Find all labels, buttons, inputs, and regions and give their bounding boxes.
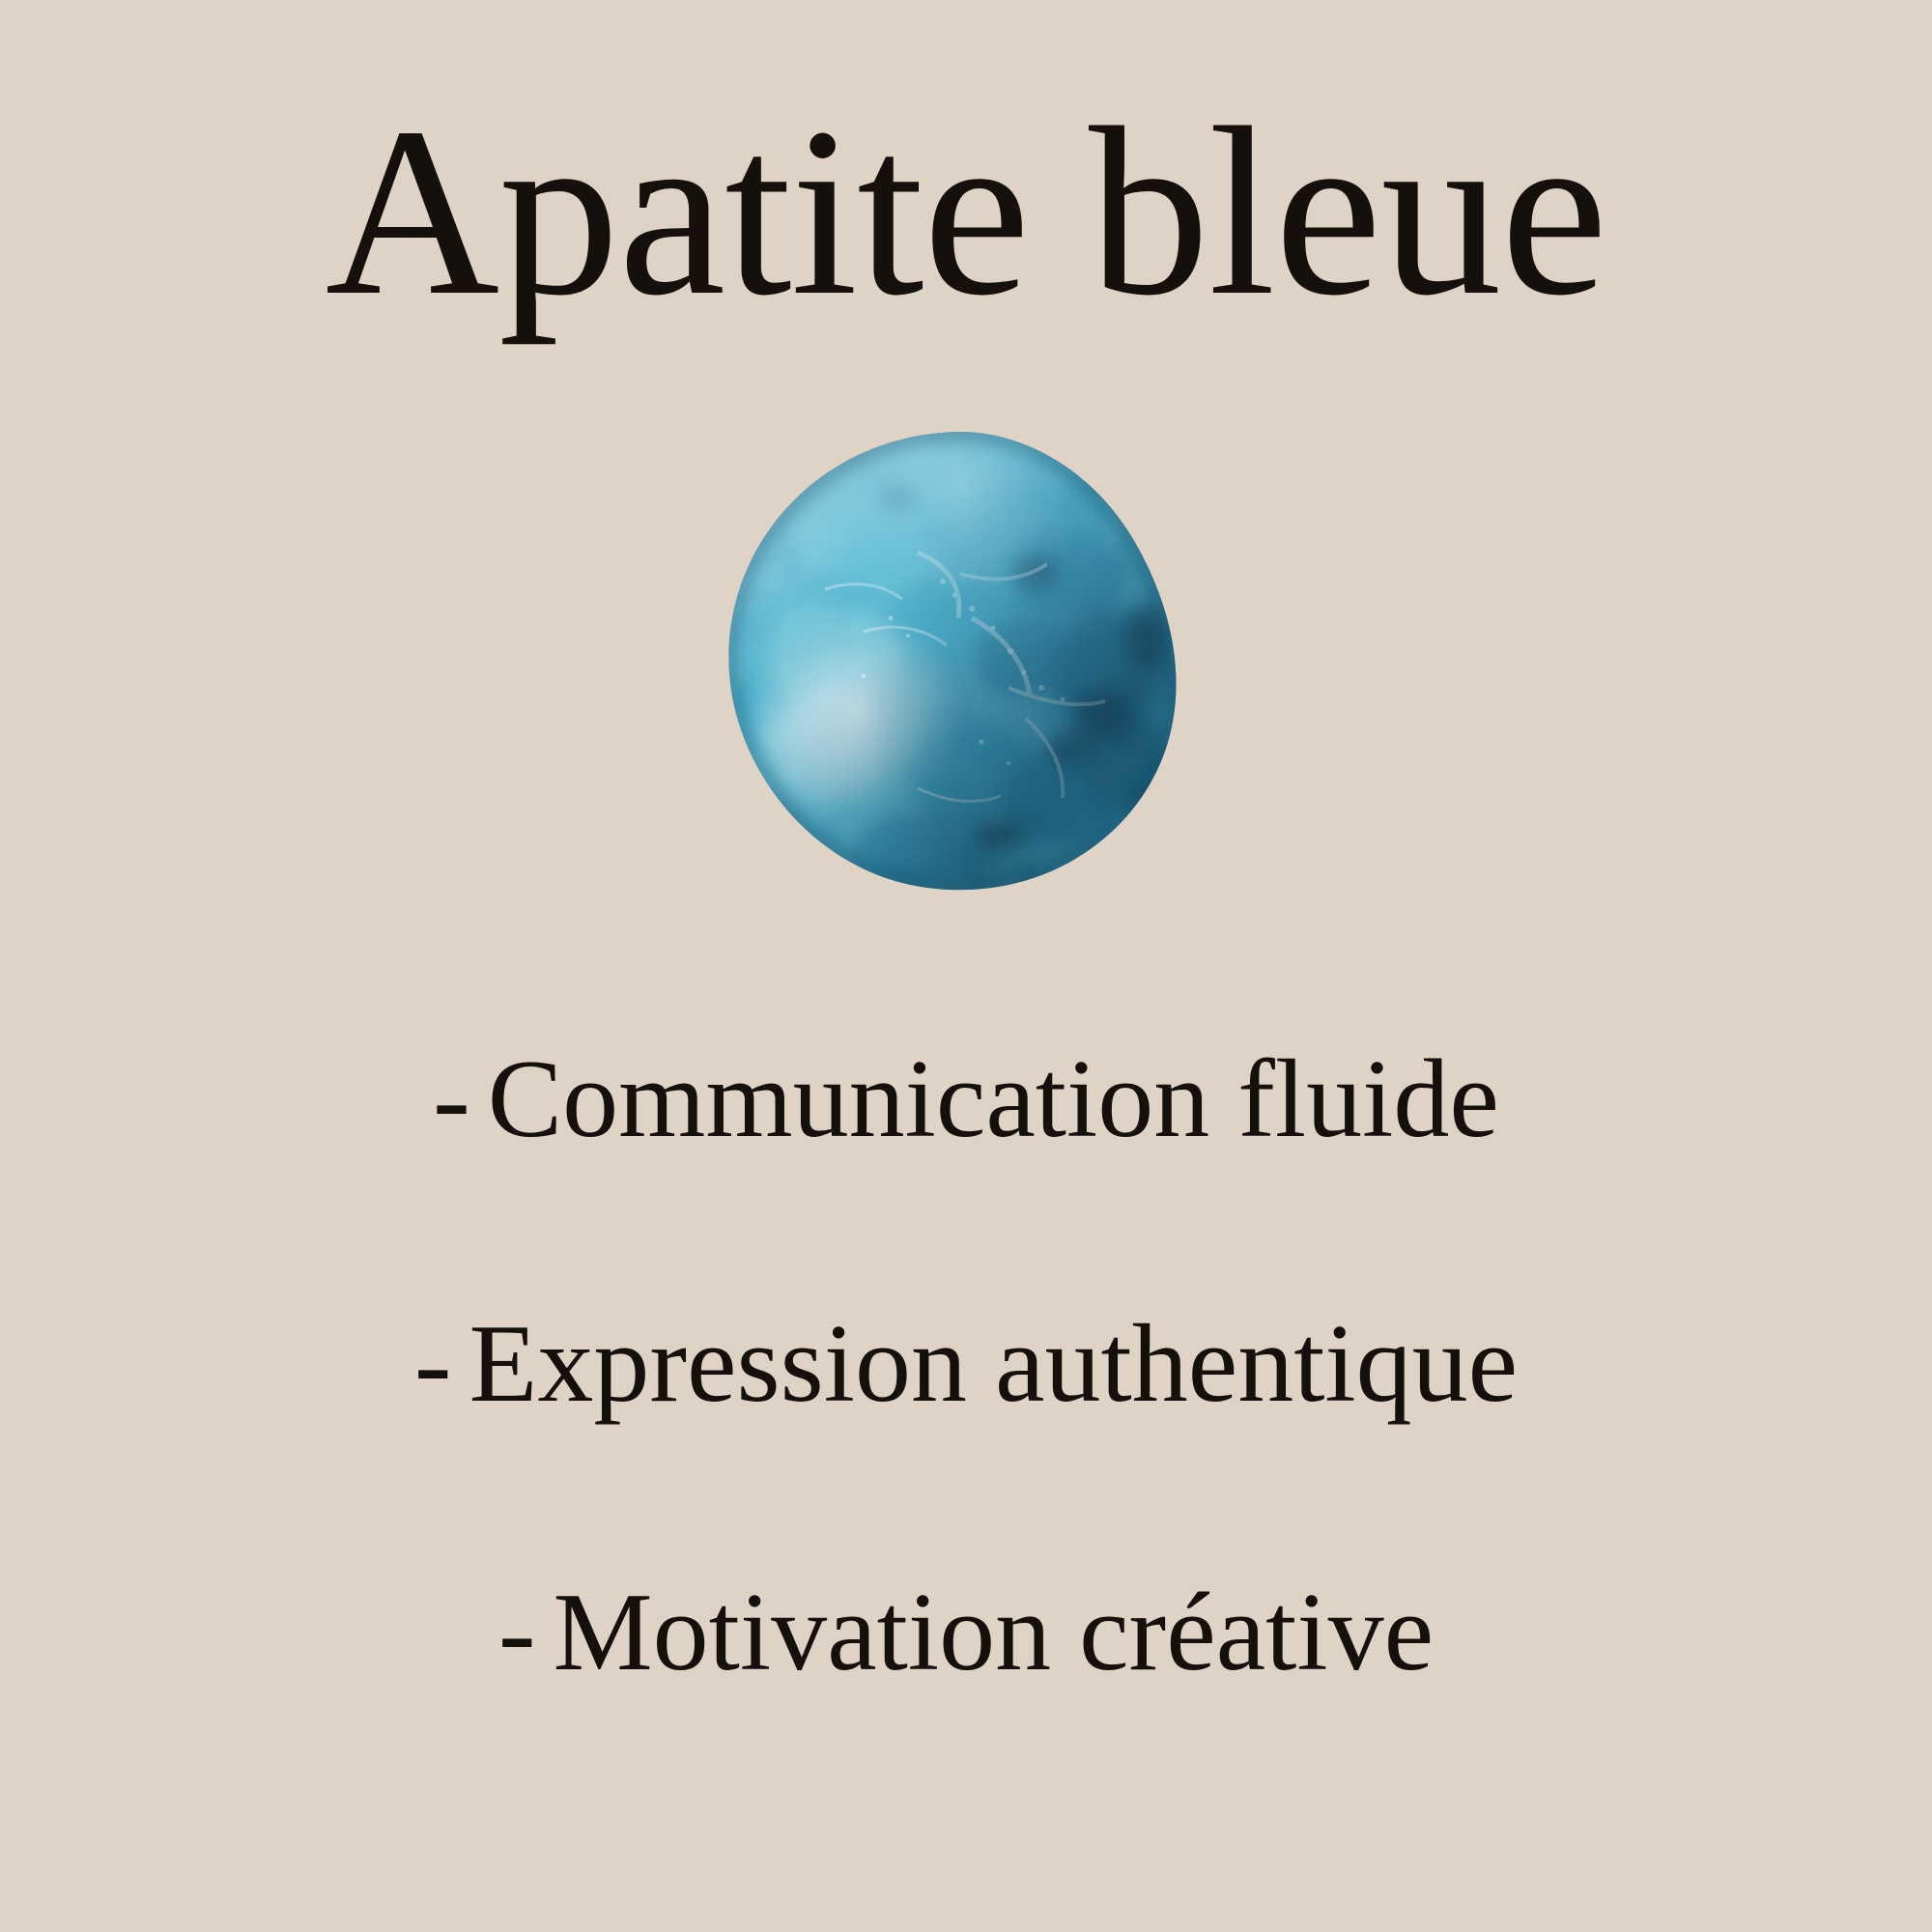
list-item-label: Expression authentique xyxy=(469,1308,1519,1420)
list-item: -Motivation créative xyxy=(0,1577,1932,1689)
page-title: Apatite bleue xyxy=(0,89,1932,335)
bullet-dash-icon: - xyxy=(414,1308,452,1420)
poster-canvas: Apatite bleue xyxy=(0,0,1932,1932)
list-item-label: Communication fluide xyxy=(488,1043,1499,1155)
bullet-dash-icon: - xyxy=(498,1577,536,1689)
benefits-list: -Communication fluide -Expression authen… xyxy=(0,1043,1932,1689)
list-item-label: Motivation créative xyxy=(554,1577,1435,1689)
gemstone-graphic xyxy=(719,429,1188,896)
apatite-stone-image xyxy=(719,429,1188,896)
list-item: -Communication fluide xyxy=(0,1043,1932,1155)
bullet-dash-icon: - xyxy=(433,1043,470,1155)
list-item: -Expression authentique xyxy=(0,1308,1932,1420)
stone-body xyxy=(719,429,1188,896)
